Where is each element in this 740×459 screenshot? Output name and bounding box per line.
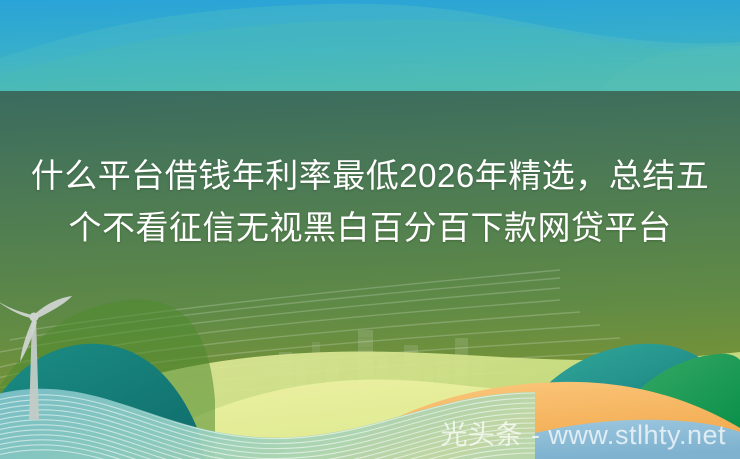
page-title: 什么平台借钱年利率最低2026年精选，总结五个不看征信无视黑白百分百下款网贷平台 [0,150,740,254]
sky-band [0,0,740,91]
poster-canvas: 什么平台借钱年利率最低2026年精选，总结五个不看征信无视黑白百分百下款网贷平台… [0,0,740,459]
field-band [0,91,740,459]
site-watermark: 光头条 - www.stlhty.net [440,422,726,449]
